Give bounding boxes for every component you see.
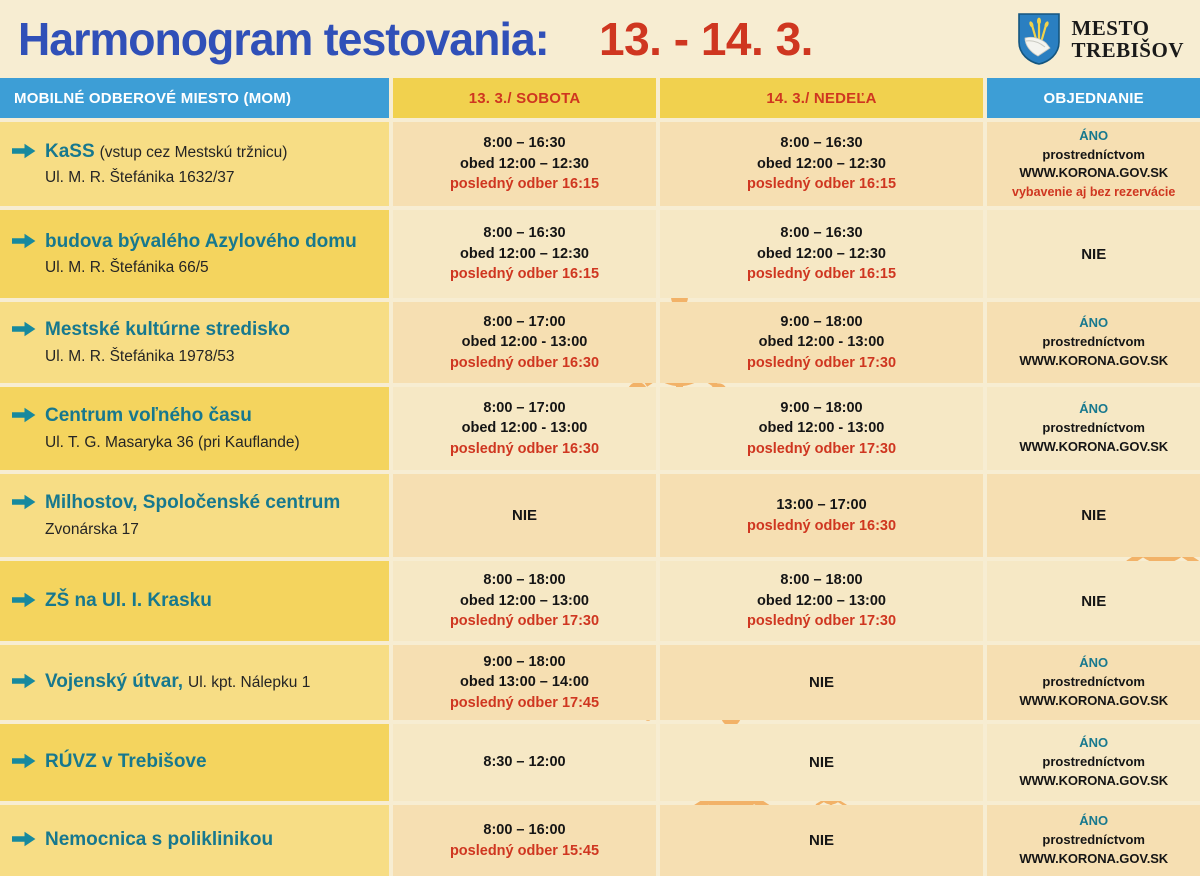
location-address: Ul. M. R. Štefánika 1978/53	[0, 348, 389, 366]
location-title-row: Vojenský útvar,Ul. kpt. Nálepku 1	[0, 671, 389, 693]
table-header-row: MOBILNÉ ODBEROVÉ MIESTO (MOM) 13. 3./ SO…	[0, 78, 1200, 118]
booking-cell: ÁNOprostredníctvomWWW.KORONA.GOV.SK	[987, 645, 1200, 720]
last-sample-label: posledný odber 16:15	[747, 264, 896, 285]
booking-via: prostredníctvom	[1042, 419, 1145, 438]
location-title-row: RÚVZ v Trebišove	[0, 751, 389, 773]
location-address: Ul. T. G. Masaryka 36 (pri Kauflande)	[0, 434, 389, 452]
location-name: ZŠ na Ul. I. Krasku	[45, 590, 212, 612]
table-body: KaSS(vstup cez Mestskú tržnicu)Ul. M. R.…	[0, 122, 1200, 876]
last-sample-label: posledný odber 17:30	[747, 353, 896, 374]
column-header-location: MOBILNÉ ODBEROVÉ MIESTO (MOM)	[0, 78, 389, 118]
booking-cell: ÁNOprostredníctvomWWW.KORONA.GOV.SK	[987, 724, 1200, 801]
hours-label: 8:00 – 18:00	[483, 570, 565, 591]
lunch-label: obed 12:00 - 13:00	[759, 418, 885, 439]
sunday-cell: 9:00 – 18:00obed 12:00 - 13:00posledný o…	[660, 302, 984, 383]
location-address: Zvonárska 17	[0, 521, 389, 539]
location-name: Milhostov, Spoločenské centrum	[45, 492, 340, 514]
saturday-cell: 8:00 – 17:00obed 12:00 - 13:00posledný o…	[393, 302, 655, 383]
hours-label: 8:00 – 17:00	[483, 312, 565, 333]
closed-label: NIE	[809, 754, 834, 771]
lunch-label: obed 13:00 – 14:00	[460, 672, 589, 693]
arrow-icon	[12, 233, 36, 249]
table-row[interactable]: ZŠ na Ul. I. Krasku8:00 – 18:00obed 12:0…	[0, 561, 1200, 641]
location-title-row: Mestské kultúrne stredisko	[0, 319, 389, 341]
saturday-cell: 8:00 – 16:30obed 12:00 – 12:30posledný o…	[393, 210, 655, 298]
schedule-table: MOBILNÉ ODBEROVÉ MIESTO (MOM) 13. 3./ SO…	[0, 78, 1200, 876]
location-note: (vstup cez Mestskú tržnicu)	[100, 144, 288, 162]
last-sample-label: posledný odber 16:15	[450, 264, 599, 285]
location-cell: KaSS(vstup cez Mestskú tržnicu)Ul. M. R.…	[0, 122, 389, 206]
arrow-icon	[12, 321, 36, 337]
arrow-icon	[12, 143, 36, 159]
last-sample-label: posledný odber 16:30	[450, 439, 599, 460]
arrow-icon	[12, 494, 36, 510]
column-header-booking: OBJEDNANIE	[987, 78, 1200, 118]
booking-url[interactable]: WWW.KORONA.GOV.SK	[1019, 352, 1168, 371]
booking-answer: ÁNO	[1079, 654, 1108, 673]
hours-label: 9:00 – 18:00	[780, 312, 862, 333]
hours-label: 8:00 – 18:00	[780, 570, 862, 591]
sunday-cell: 9:00 – 18:00obed 12:00 - 13:00posledný o…	[660, 387, 984, 470]
table-row[interactable]: budova bývalého Azylového domuUl. M. R. …	[0, 210, 1200, 298]
table-row[interactable]: Vojenský útvar,Ul. kpt. Nálepku 19:00 – …	[0, 645, 1200, 720]
location-cell: Nemocnica s poliklinikou	[0, 805, 389, 876]
booking-via: prostredníctvom	[1042, 333, 1145, 352]
date-range: 13. - 14. 3.	[599, 16, 813, 62]
lunch-label: obed 12:00 - 13:00	[759, 332, 885, 353]
column-header-saturday: 13. 3./ SOBOTA	[393, 78, 655, 118]
sunday-cell: NIE	[660, 645, 984, 720]
booking-via: prostredníctvom	[1042, 146, 1145, 165]
location-name: KaSS	[45, 141, 95, 163]
closed-label: NIE	[512, 507, 537, 524]
sunday-cell: NIE	[660, 805, 984, 876]
lunch-label: obed 12:00 – 12:30	[460, 244, 589, 265]
location-name: budova bývalého Azylového domu	[45, 231, 357, 253]
location-cell: ZŠ na Ul. I. Krasku	[0, 561, 389, 641]
brand-line-2: TREBIŠOV	[1071, 39, 1184, 61]
brand-line-1: MESTO	[1071, 17, 1184, 39]
page-header: Harmonogram testovania: 13. - 14. 3.	[0, 0, 1200, 78]
arrow-icon	[12, 831, 36, 847]
location-name: Nemocnica s poliklinikou	[45, 829, 273, 851]
booking-answer: ÁNO	[1079, 400, 1108, 419]
location-cell: budova bývalého Azylového domuUl. M. R. …	[0, 210, 389, 298]
hours-label: 8:00 – 16:30	[780, 133, 862, 154]
lunch-label: obed 12:00 – 13:00	[460, 591, 589, 612]
table-row[interactable]: Mestské kultúrne strediskoUl. M. R. Štef…	[0, 302, 1200, 383]
arrow-icon	[12, 592, 36, 608]
table-row[interactable]: Milhostov, Spoločenské centrumZvonárska …	[0, 474, 1200, 557]
location-address: Ul. M. R. Štefánika 66/5	[0, 259, 389, 277]
city-brand: MESTO TREBIŠOV	[1016, 12, 1190, 66]
last-sample-label: posledný odber 16:15	[747, 174, 896, 195]
location-address: Ul. M. R. Štefánika 1632/37	[0, 169, 389, 187]
arrow-icon	[12, 673, 36, 689]
booking-via: prostredníctvom	[1042, 753, 1145, 772]
booking-url[interactable]: WWW.KORONA.GOV.SK	[1019, 164, 1168, 183]
last-sample-label: posledný odber 16:30	[450, 353, 599, 374]
booking-url[interactable]: WWW.KORONA.GOV.SK	[1019, 438, 1168, 457]
location-title-row: ZŠ na Ul. I. Krasku	[0, 590, 389, 612]
location-name: Mestské kultúrne stredisko	[45, 319, 290, 341]
coat-of-arms-icon	[1016, 12, 1062, 66]
city-brand-text: MESTO TREBIŠOV	[1071, 17, 1184, 62]
booking-via: prostredníctvom	[1042, 831, 1145, 850]
lunch-label: obed 12:00 – 12:30	[757, 244, 886, 265]
lunch-label: obed 12:00 – 12:30	[757, 154, 886, 175]
last-sample-label: posledný odber 17:30	[450, 611, 599, 632]
location-title-row: budova bývalého Azylového domu	[0, 231, 389, 253]
hours-label: 8:00 – 16:30	[483, 223, 565, 244]
hours-label: 8:00 – 17:00	[483, 398, 565, 419]
arrow-icon	[12, 753, 36, 769]
location-cell: RÚVZ v Trebišove	[0, 724, 389, 801]
sunday-cell: 8:00 – 16:30obed 12:00 – 12:30posledný o…	[660, 122, 984, 206]
saturday-cell: 8:00 – 16:30obed 12:00 – 12:30posledný o…	[393, 122, 655, 206]
booking-answer: NIE	[1081, 246, 1106, 263]
location-title-row: Milhostov, Spoločenské centrum	[0, 492, 389, 514]
booking-url[interactable]: WWW.KORONA.GOV.SK	[1019, 850, 1168, 869]
booking-answer: NIE	[1081, 507, 1106, 524]
booking-cell: NIE	[987, 474, 1200, 557]
saturday-cell: 8:00 – 16:00posledný odber 15:45	[393, 805, 655, 876]
hours-label: 9:00 – 18:00	[483, 652, 565, 673]
booking-answer: ÁNO	[1079, 734, 1108, 753]
location-cell: Mestské kultúrne strediskoUl. M. R. Štef…	[0, 302, 389, 383]
hours-label: 8:00 – 16:30	[780, 223, 862, 244]
table-row[interactable]: Nemocnica s poliklinikou8:00 – 16:00posl…	[0, 805, 1200, 876]
last-sample-label: posledný odber 16:30	[747, 516, 896, 537]
location-title-row: KaSS(vstup cez Mestskú tržnicu)	[0, 141, 389, 163]
table-row[interactable]: RÚVZ v Trebišove8:30 – 12:00NIEÁNOprostr…	[0, 724, 1200, 801]
last-sample-label: posledný odber 15:45	[450, 841, 599, 862]
location-name: Vojenský útvar,	[45, 671, 183, 693]
hours-label: 9:00 – 18:00	[780, 398, 862, 419]
saturday-cell: 8:00 – 18:00obed 12:00 – 13:00posledný o…	[393, 561, 655, 641]
location-title-row: Nemocnica s poliklinikou	[0, 829, 389, 851]
booking-answer: ÁNO	[1079, 812, 1108, 831]
booking-answer: ÁNO	[1079, 314, 1108, 333]
sunday-cell: 13:00 – 17:00posledný odber 16:30	[660, 474, 984, 557]
location-title-row: Centrum voľného času	[0, 405, 389, 427]
location-name: RÚVZ v Trebišove	[45, 751, 207, 773]
sunday-cell: 8:00 – 16:30obed 12:00 – 12:30posledný o…	[660, 210, 984, 298]
last-sample-label: posledný odber 17:30	[747, 611, 896, 632]
booking-extra-note: vybavenie aj bez rezervácie	[1012, 183, 1175, 201]
last-sample-label: posledný odber 17:45	[450, 693, 599, 714]
hours-label: 8:30 – 12:00	[483, 752, 565, 773]
table-row[interactable]: KaSS(vstup cez Mestskú tržnicu)Ul. M. R.…	[0, 122, 1200, 206]
booking-cell: NIE	[987, 561, 1200, 641]
booking-answer: ÁNO	[1079, 127, 1108, 146]
booking-url[interactable]: WWW.KORONA.GOV.SK	[1019, 692, 1168, 711]
booking-cell: ÁNOprostredníctvomWWW.KORONA.GOV.SK	[987, 805, 1200, 876]
location-cell: Centrum voľného časuUl. T. G. Masaryka 3…	[0, 387, 389, 470]
booking-cell: ÁNOprostredníctvomWWW.KORONA.GOV.SK	[987, 302, 1200, 383]
booking-cell: ÁNOprostredníctvomWWW.KORONA.GOV.SKvybav…	[987, 122, 1200, 206]
sunday-cell: NIE	[660, 724, 984, 801]
closed-label: NIE	[809, 832, 834, 849]
page-title: Harmonogram testovania:	[18, 16, 549, 62]
booking-cell: ÁNOprostredníctvomWWW.KORONA.GOV.SK	[987, 387, 1200, 470]
lunch-label: obed 12:00 - 13:00	[462, 332, 588, 353]
booking-answer: NIE	[1081, 593, 1106, 610]
location-note: Ul. kpt. Nálepku 1	[188, 674, 310, 692]
arrow-icon	[12, 407, 36, 423]
column-header-sunday: 14. 3./ NEDEĽA	[660, 78, 984, 118]
hours-label: 8:00 – 16:30	[483, 133, 565, 154]
lunch-label: obed 12:00 - 13:00	[462, 418, 588, 439]
booking-cell: NIE	[987, 210, 1200, 298]
booking-via: prostredníctvom	[1042, 673, 1145, 692]
location-cell: Vojenský útvar,Ul. kpt. Nálepku 1	[0, 645, 389, 720]
saturday-cell: 8:30 – 12:00	[393, 724, 655, 801]
hours-label: 8:00 – 16:00	[483, 820, 565, 841]
saturday-cell: 8:00 – 17:00obed 12:00 - 13:00posledný o…	[393, 387, 655, 470]
table-row[interactable]: Centrum voľného časuUl. T. G. Masaryka 3…	[0, 387, 1200, 470]
hours-label: 13:00 – 17:00	[776, 495, 866, 516]
lunch-label: obed 12:00 – 12:30	[460, 154, 589, 175]
lunch-label: obed 12:00 – 13:00	[757, 591, 886, 612]
closed-label: NIE	[809, 674, 834, 691]
saturday-cell: NIE	[393, 474, 655, 557]
last-sample-label: posledný odber 17:30	[747, 439, 896, 460]
booking-url[interactable]: WWW.KORONA.GOV.SK	[1019, 772, 1168, 791]
location-cell: Milhostov, Spoločenské centrumZvonárska …	[0, 474, 389, 557]
last-sample-label: posledný odber 16:15	[450, 174, 599, 195]
location-name: Centrum voľného času	[45, 405, 252, 427]
sunday-cell: 8:00 – 18:00obed 12:00 – 13:00posledný o…	[660, 561, 984, 641]
saturday-cell: 9:00 – 18:00obed 13:00 – 14:00posledný o…	[393, 645, 655, 720]
